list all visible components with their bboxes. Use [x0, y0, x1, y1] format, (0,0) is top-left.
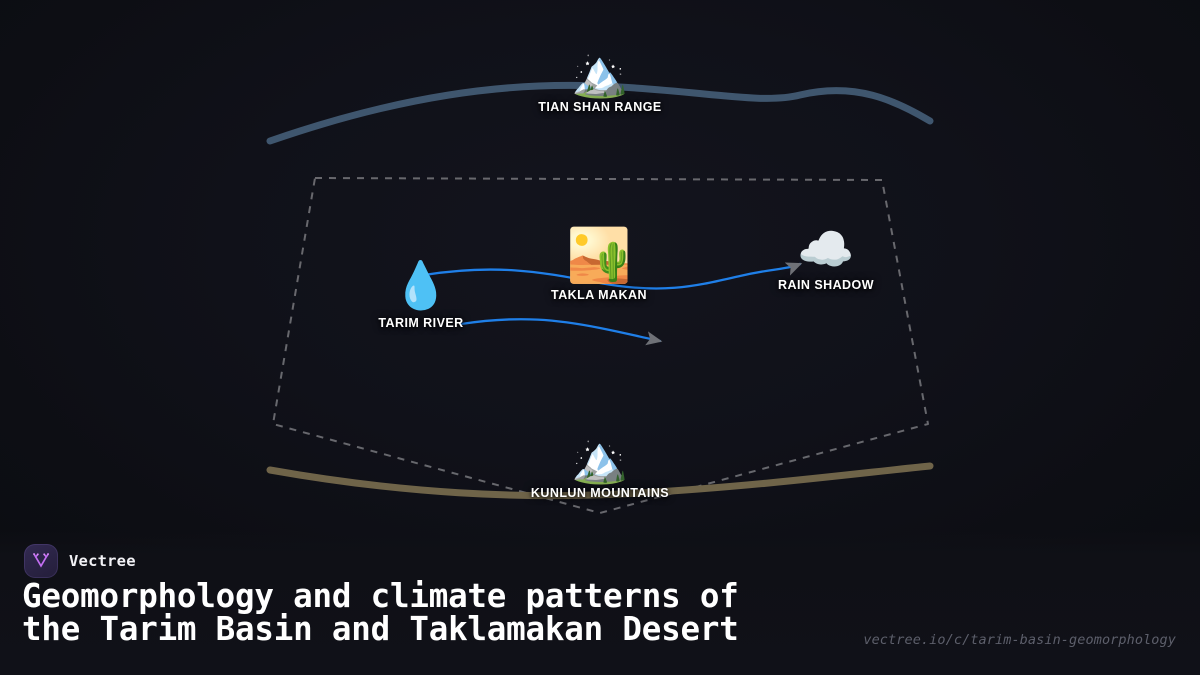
page-title: Geomorphology and climate patterns of th…: [22, 580, 852, 647]
cloud-icon: ☁️: [797, 226, 854, 272]
node-kunlun-mountains[interactable]: 🏔️ KUNLUN MOUNTAINS: [531, 436, 669, 500]
node-tian-shan-range[interactable]: 🏔️ TIAN SHAN RANGE: [538, 50, 661, 114]
screenshot-root: 🏔️ TIAN SHAN RANGE 🏜️ TAKLA MAKAN ☁️ RAI…: [0, 0, 1200, 675]
diagram-canvas[interactable]: 🏔️ TIAN SHAN RANGE 🏜️ TAKLA MAKAN ☁️ RAI…: [0, 0, 1200, 530]
node-tarim-river[interactable]: 💧 TARIM RIVER: [378, 262, 463, 330]
node-label-kunlun-mountains: KUNLUN MOUNTAINS: [531, 486, 669, 500]
snow-capped-mountain-icon: 🏔️: [571, 436, 628, 482]
water-droplet-icon: 💧: [392, 262, 449, 308]
footer-bar: Vectree Geomorphology and climate patter…: [0, 530, 1200, 675]
node-label-rain-shadow: RAIN SHADOW: [778, 278, 874, 292]
brand-block[interactable]: Vectree: [24, 544, 136, 578]
desert-icon: 🏜️: [567, 230, 632, 282]
source-url: vectree.io/c/tarim-basin-geomorphology: [863, 632, 1176, 648]
node-label-takla-makan: TAKLA MAKAN: [551, 288, 647, 302]
brand-name: Vectree: [69, 552, 136, 570]
node-label-tarim-river: TARIM RIVER: [378, 316, 463, 330]
river-flow-southeast-arrow[interactable]: [461, 319, 660, 341]
node-label-tian-shan-range: TIAN SHAN RANGE: [538, 100, 661, 114]
node-rain-shadow[interactable]: ☁️ RAIN SHADOW: [778, 226, 874, 292]
node-takla-makan[interactable]: 🏜️ TAKLA MAKAN: [551, 230, 647, 302]
snow-capped-mountain-icon: 🏔️: [571, 50, 628, 96]
vectree-logo-icon: [24, 544, 58, 578]
